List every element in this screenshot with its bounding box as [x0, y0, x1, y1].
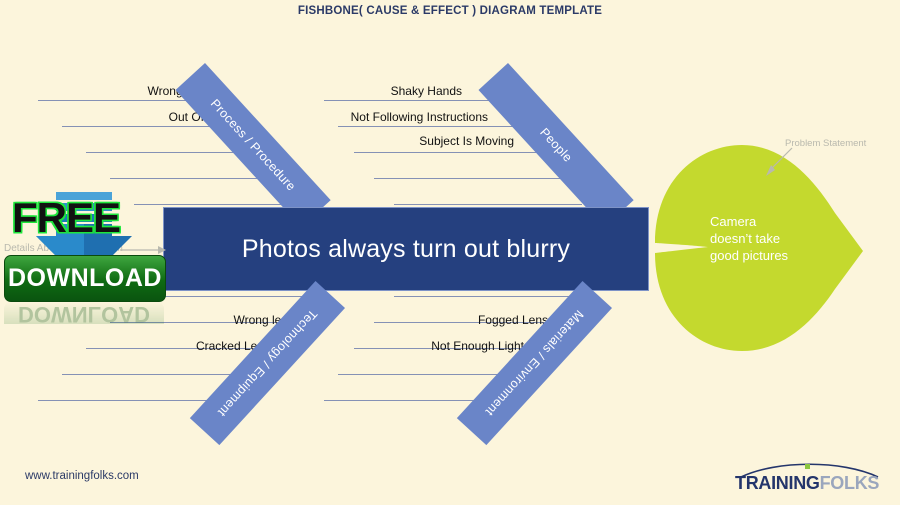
- category-label: Process / Procedure: [208, 96, 299, 193]
- annotation-arrow-icon: [762, 146, 796, 180]
- page-title: FISHBONE( CAUSE & EFFECT ) DIAGRAM TEMPL…: [0, 5, 900, 17]
- problem-spine: Photos always turn out blurry: [163, 207, 649, 291]
- annotation-problem-statement: Problem Statement: [785, 138, 866, 149]
- bone-line: [394, 296, 582, 297]
- trainingfolks-logo: TRAININGFOLKS: [735, 463, 880, 495]
- effect-line-3: good pictures: [710, 247, 788, 264]
- logo-text-training: TRAINING: [735, 473, 820, 493]
- watermark-free-label: FREE: [12, 194, 120, 242]
- category-bar-process-procedure: Process / Procedure: [176, 63, 331, 227]
- category-bar-technology-equipment: Technology / Equipment: [190, 281, 345, 445]
- problem-statement-text: Photos always turn out blurry: [242, 235, 570, 264]
- bone-line: [324, 100, 512, 101]
- effect-shape: Camera doesn’t take good pictures: [650, 143, 865, 353]
- bone-line: [62, 374, 250, 375]
- cause-label: Fogged Lens: [428, 313, 548, 327]
- free-download-watermark[interactable]: FREE DOWNLOAD DOWNLOAD: [0, 192, 168, 317]
- bone-line: [354, 152, 542, 153]
- effect-line-1: Camera: [710, 213, 788, 230]
- fishbone-diagram-slide: FISHBONE( CAUSE & EFFECT ) DIAGRAM TEMPL…: [0, 0, 900, 505]
- cause-label: Shaky Hands: [342, 84, 462, 98]
- logo-text-folks: FOLKS: [820, 473, 880, 493]
- watermark-download-label: DOWNLOAD: [8, 264, 162, 293]
- cause-label: Subject Is Moving: [388, 134, 514, 148]
- watermark-reflection: DOWNLOAD: [4, 302, 164, 324]
- category-bar-materials-environment: Materials / Environment: [457, 281, 612, 445]
- bone-line: [38, 400, 226, 401]
- bone-line: [374, 178, 562, 179]
- cause-label: Not Enough Light: [404, 339, 524, 353]
- effect-line-2: doesn’t take: [710, 230, 788, 247]
- cause-label: Not Following Instructions: [318, 110, 488, 124]
- download-button[interactable]: DOWNLOAD: [4, 255, 166, 302]
- category-label: People: [537, 125, 575, 164]
- footer-website-url[interactable]: www.trainingfolks.com: [25, 470, 139, 482]
- logo-wordmark: TRAININGFOLKS: [735, 473, 879, 494]
- bone-line: [338, 126, 526, 127]
- effect-text: Camera doesn’t take good pictures: [710, 213, 788, 264]
- bone-line: [394, 204, 582, 205]
